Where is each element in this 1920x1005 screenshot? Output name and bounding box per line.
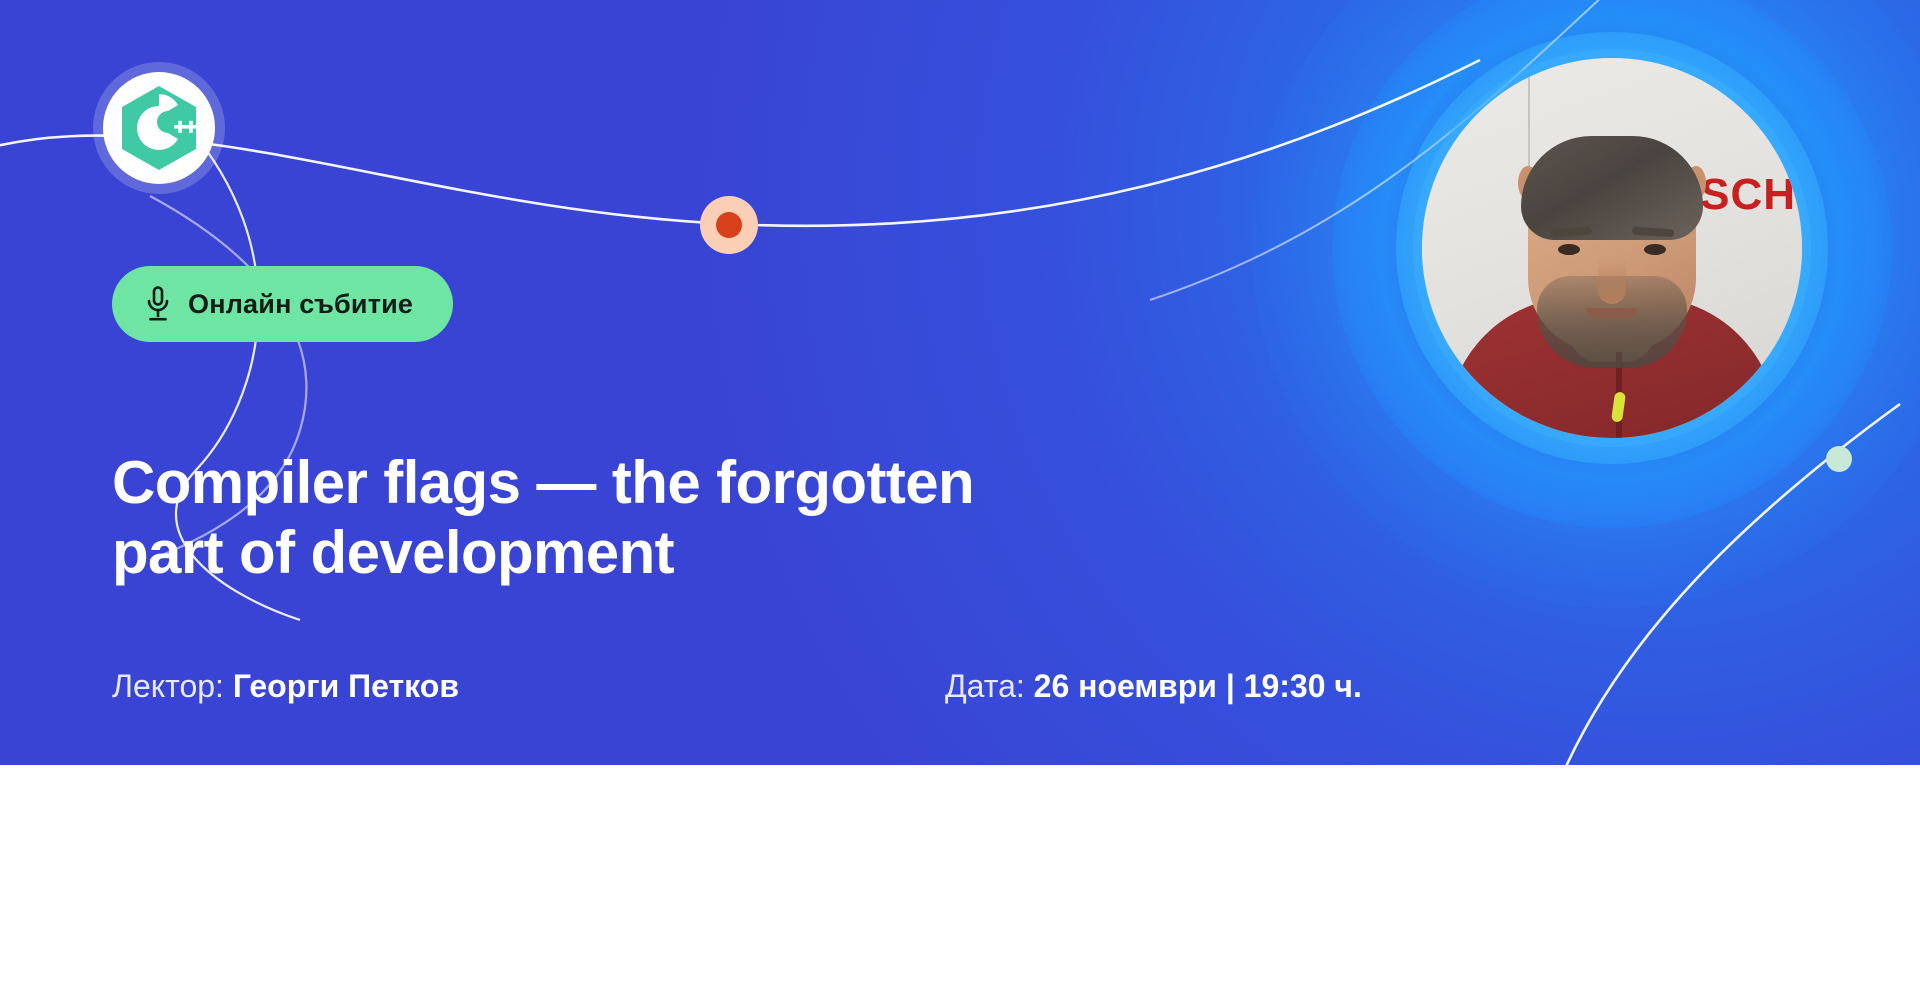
- cpp-hexagon-icon: [120, 85, 198, 171]
- event-banner: BOSCH: [0, 0, 1920, 1005]
- date-value: 26 ноември | 19:30 ч.: [1034, 668, 1362, 704]
- cpp-logo: [93, 62, 225, 194]
- footer-section: Партньор: BOSCH Invented for life Органи…: [0, 765, 1920, 1005]
- online-event-label: Онлайн събитие: [188, 289, 413, 320]
- speaker-meta: Лектор: Георги Петков: [112, 668, 459, 705]
- title-line-2: part of development: [112, 518, 1212, 588]
- title-line-1: Compiler flags — the forgotten: [112, 448, 1212, 518]
- date-meta: Дата: 26 ноември | 19:30 ч.: [945, 668, 1362, 705]
- speaker-label: Лектор:: [112, 668, 224, 704]
- microphone-icon: [146, 286, 170, 322]
- speaker-photo: BOSCH: [1422, 58, 1802, 438]
- page-title: Compiler flags — the forgotten part of d…: [112, 448, 1212, 588]
- mint-dot: [1826, 446, 1852, 472]
- hero-section: BOSCH: [0, 0, 1920, 765]
- speaker-name: Георги Петков: [233, 668, 459, 704]
- date-label: Дата:: [945, 668, 1025, 704]
- online-event-badge[interactable]: Онлайн събитие: [112, 266, 453, 342]
- orange-dot: [700, 196, 758, 254]
